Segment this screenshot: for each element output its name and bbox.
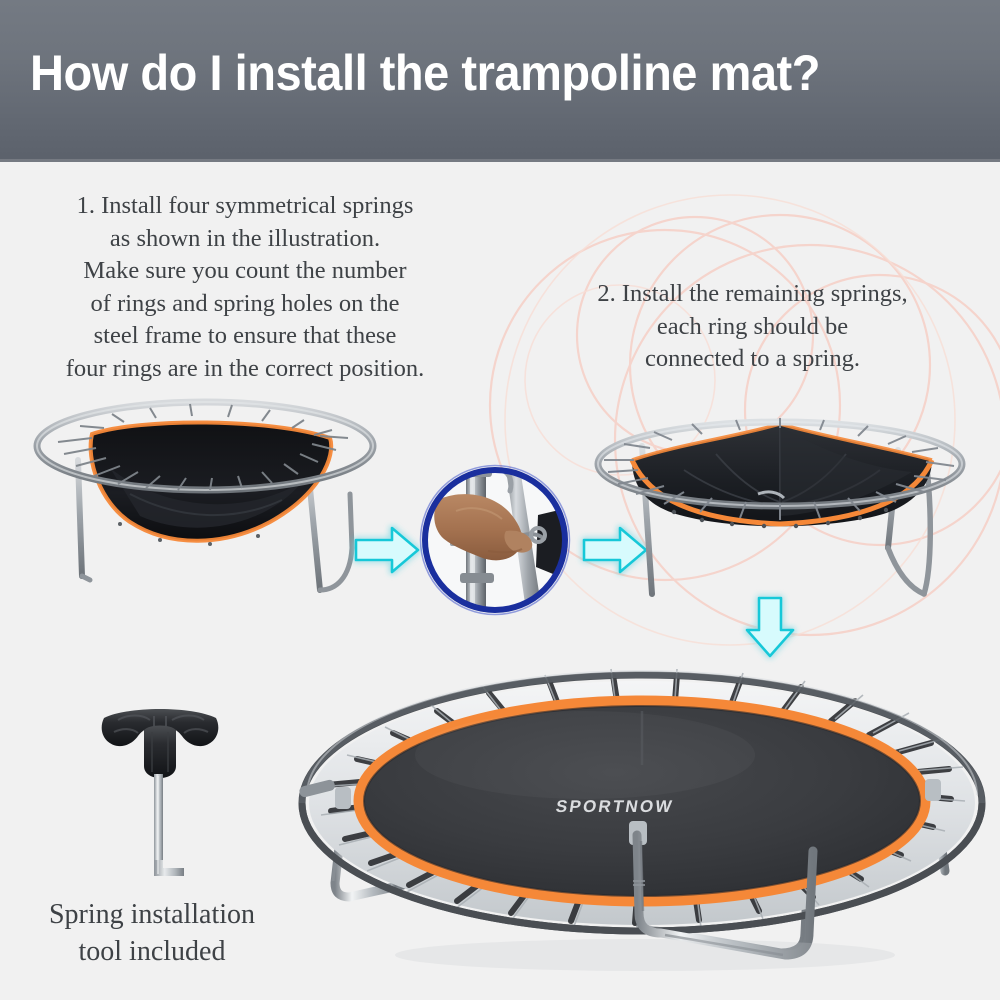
step-2-line-3: connected to a spring. xyxy=(540,343,965,376)
tool-caption-line-2: tool included xyxy=(2,933,302,970)
tool-caption-line-1: Spring installation xyxy=(2,896,302,933)
step-1-line-3: Make sure you count the number xyxy=(6,255,484,288)
step-1-line-5: steel frame to ensure that these xyxy=(6,320,484,353)
step-1-line-1: 1. Install four symmetrical springs xyxy=(6,190,484,223)
brand-logo: SPORTNOW xyxy=(555,797,676,816)
step-1-line-2: as shown in the illustration. xyxy=(6,223,484,256)
step-2-line-1: 2. Install the remaining springs, xyxy=(540,278,965,311)
page-title: How do I install the trampoline mat? xyxy=(30,44,820,102)
header-banner: How do I install the trampoline mat? xyxy=(0,0,1000,162)
infographic-page: How do I install the trampoline mat? 1. … xyxy=(0,0,1000,1000)
step-1-line-4: of rings and spring holes on the xyxy=(6,288,484,321)
spring-installation-tool-illustration xyxy=(80,700,240,890)
trampoline-assembled-illustration: SPORTNOW xyxy=(285,635,1000,975)
step-2-text: 2. Install the remaining springs, each r… xyxy=(540,278,965,376)
spring-hook-closeup-inset xyxy=(410,455,580,625)
tool-caption: Spring installation tool included xyxy=(2,896,302,970)
trampoline-step2-illustration xyxy=(580,398,980,608)
step-1-text: 1. Install four symmetrical springs as s… xyxy=(6,190,484,385)
step-2-line-2: each ring should be xyxy=(540,311,965,344)
header-divider xyxy=(0,159,1000,162)
step-1-line-6: four rings are in the correct position. xyxy=(6,353,484,386)
trampoline-step1-illustration xyxy=(20,398,390,618)
